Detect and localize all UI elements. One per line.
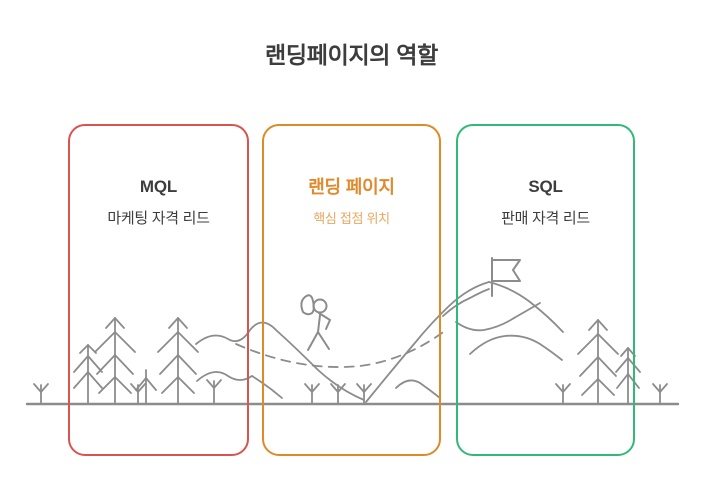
panel-landing-page-text: 랜딩 페이지 핵심 접점 위치	[262, 178, 441, 225]
page-title: 랜딩페이지의 역할	[0, 42, 703, 70]
panel-sql-subtitle: 판매 자격 리드	[456, 211, 635, 226]
panel-sql-text: SQL 판매 자격 리드	[456, 178, 635, 226]
panel-landing-page-subtitle: 핵심 접점 위치	[262, 212, 441, 225]
panel-landing-page[interactable]	[262, 124, 441, 456]
panel-sql[interactable]	[456, 124, 635, 456]
panel-mql-text: MQL 마케팅 자격 리드	[68, 178, 249, 226]
panel-mql-title: MQL	[68, 178, 249, 195]
panel-mql-subtitle: 마케팅 자격 리드	[68, 211, 249, 226]
panel-sql-title: SQL	[456, 178, 635, 195]
diagram-canvas: 랜딩페이지의 역할	[0, 0, 703, 481]
panel-landing-page-title: 랜딩 페이지	[262, 178, 441, 196]
panel-mql[interactable]	[68, 124, 249, 456]
